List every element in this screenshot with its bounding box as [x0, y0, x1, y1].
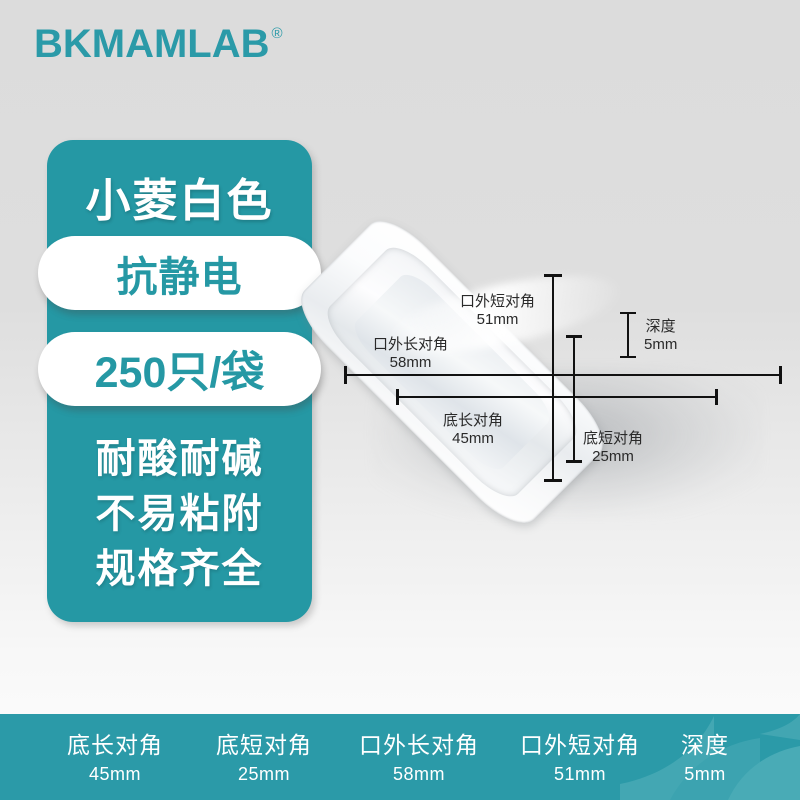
- dimlabel-outer-short-name: 口外短对角: [460, 293, 535, 310]
- dimline-outer-short: [552, 274, 554, 482]
- feature-list: 耐酸耐碱 不易粘附 规格齐全: [47, 432, 312, 597]
- dimension-overlay: 口外短对角 51mm 口外长对角 58mm 深度 5mm 底长对角 45mm 底…: [330, 250, 800, 550]
- brand-wordmark: BKMAMLAB: [34, 24, 270, 64]
- spec-item-bottom-long-value: 45mm: [40, 765, 190, 783]
- dimline-depth: [627, 312, 629, 358]
- feature-panel: 小菱白色 抗静电 250只/袋 耐酸耐碱 不易粘附 规格齐全: [47, 140, 312, 622]
- registered-trademark-icon: ®: [272, 26, 283, 41]
- brand-logo: BKMAMLAB ®: [34, 24, 282, 64]
- spec-item-depth-name: 深度: [660, 731, 750, 760]
- dimlabel-bottom-short: 底短对角 25mm: [583, 430, 643, 467]
- dimlabel-bottom-long: 底长对角 45mm: [443, 412, 503, 449]
- feature-item-full-range: 规格齐全: [47, 542, 312, 597]
- dimtick-outer-long-right: [779, 366, 782, 384]
- spec-item-bottom-short-value: 25mm: [190, 765, 338, 783]
- dimlabel-bottom-long-value: 45mm: [443, 430, 503, 448]
- spec-item-bottom-short-name: 底短对角: [190, 731, 338, 760]
- dimtick-bottom-long-right: [715, 389, 718, 405]
- spec-item-outer-long-name: 口外长对角: [338, 731, 500, 760]
- dimlabel-depth-name: 深度: [646, 318, 676, 335]
- spec-item-outer-long: 口外长对角 58mm: [338, 731, 500, 784]
- spec-item-depth-value: 5mm: [660, 765, 750, 783]
- feature-item-acid-alkali: 耐酸耐碱: [47, 432, 312, 487]
- spec-item-bottom-long: 底长对角 45mm: [40, 731, 190, 784]
- dimlabel-outer-short-value: 51mm: [460, 311, 535, 329]
- dimtick-outer-short-bottom: [544, 479, 562, 482]
- spec-item-outer-short: 口外短对角 51mm: [500, 731, 660, 784]
- dimtick-outer-short-top: [544, 274, 562, 277]
- dimtick-depth-top: [620, 312, 636, 314]
- spec-item-bottom-short: 底短对角 25mm: [190, 731, 338, 784]
- dimlabel-bottom-short-value: 25mm: [583, 448, 643, 466]
- dimlabel-bottom-long-name: 底长对角: [443, 412, 503, 429]
- dimtick-bottom-short-top: [566, 335, 582, 338]
- spec-item-outer-short-value: 51mm: [500, 765, 660, 783]
- product-photo: 口外短对角 51mm 口外长对角 58mm 深度 5mm 底长对角 45mm 底…: [330, 250, 800, 550]
- dimline-outer-long: [344, 374, 782, 376]
- badge-quantity-label: 250只/袋: [95, 338, 265, 400]
- specification-bar: 底长对角 45mm 底短对角 25mm 口外长对角 58mm 口外短对角 51m…: [0, 714, 800, 800]
- spec-item-outer-long-value: 58mm: [338, 765, 500, 783]
- badge-quantity: 250只/袋: [38, 332, 321, 406]
- dimtick-bottom-long-left: [396, 389, 399, 405]
- specification-list: 底长对角 45mm 底短对角 25mm 口外长对角 58mm 口外短对角 51m…: [0, 714, 800, 800]
- dimline-bottom-long: [396, 396, 718, 398]
- dimlabel-depth: 深度 5mm: [644, 318, 677, 355]
- panel-title: 小菱白色: [47, 164, 312, 229]
- dimtick-outer-long-left: [344, 366, 347, 384]
- spec-item-outer-short-name: 口外短对角: [500, 731, 660, 760]
- spec-item-depth: 深度 5mm: [660, 731, 750, 784]
- dimtick-bottom-short-bottom: [566, 460, 582, 463]
- dimline-bottom-short: [573, 335, 575, 463]
- dimlabel-depth-value: 5mm: [644, 336, 677, 354]
- product-image-canvas: BKMAMLAB ® 小菱白色 抗静电 250只/袋 耐酸耐碱 不易粘附 规格齐…: [0, 0, 800, 800]
- dimlabel-bottom-short-name: 底短对角: [583, 430, 643, 447]
- dimlabel-outer-long-name: 口外长对角: [373, 336, 448, 353]
- spec-item-bottom-long-name: 底长对角: [40, 731, 190, 760]
- badge-antistatic-label: 抗静电: [117, 243, 243, 303]
- dimlabel-outer-short: 口外短对角 51mm: [460, 293, 535, 330]
- dimlabel-outer-long: 口外长对角 58mm: [373, 336, 448, 373]
- dimlabel-outer-long-value: 58mm: [373, 354, 448, 372]
- feature-item-non-stick: 不易粘附: [47, 487, 312, 542]
- badge-antistatic: 抗静电: [38, 236, 321, 310]
- dimtick-depth-bottom: [620, 356, 636, 358]
